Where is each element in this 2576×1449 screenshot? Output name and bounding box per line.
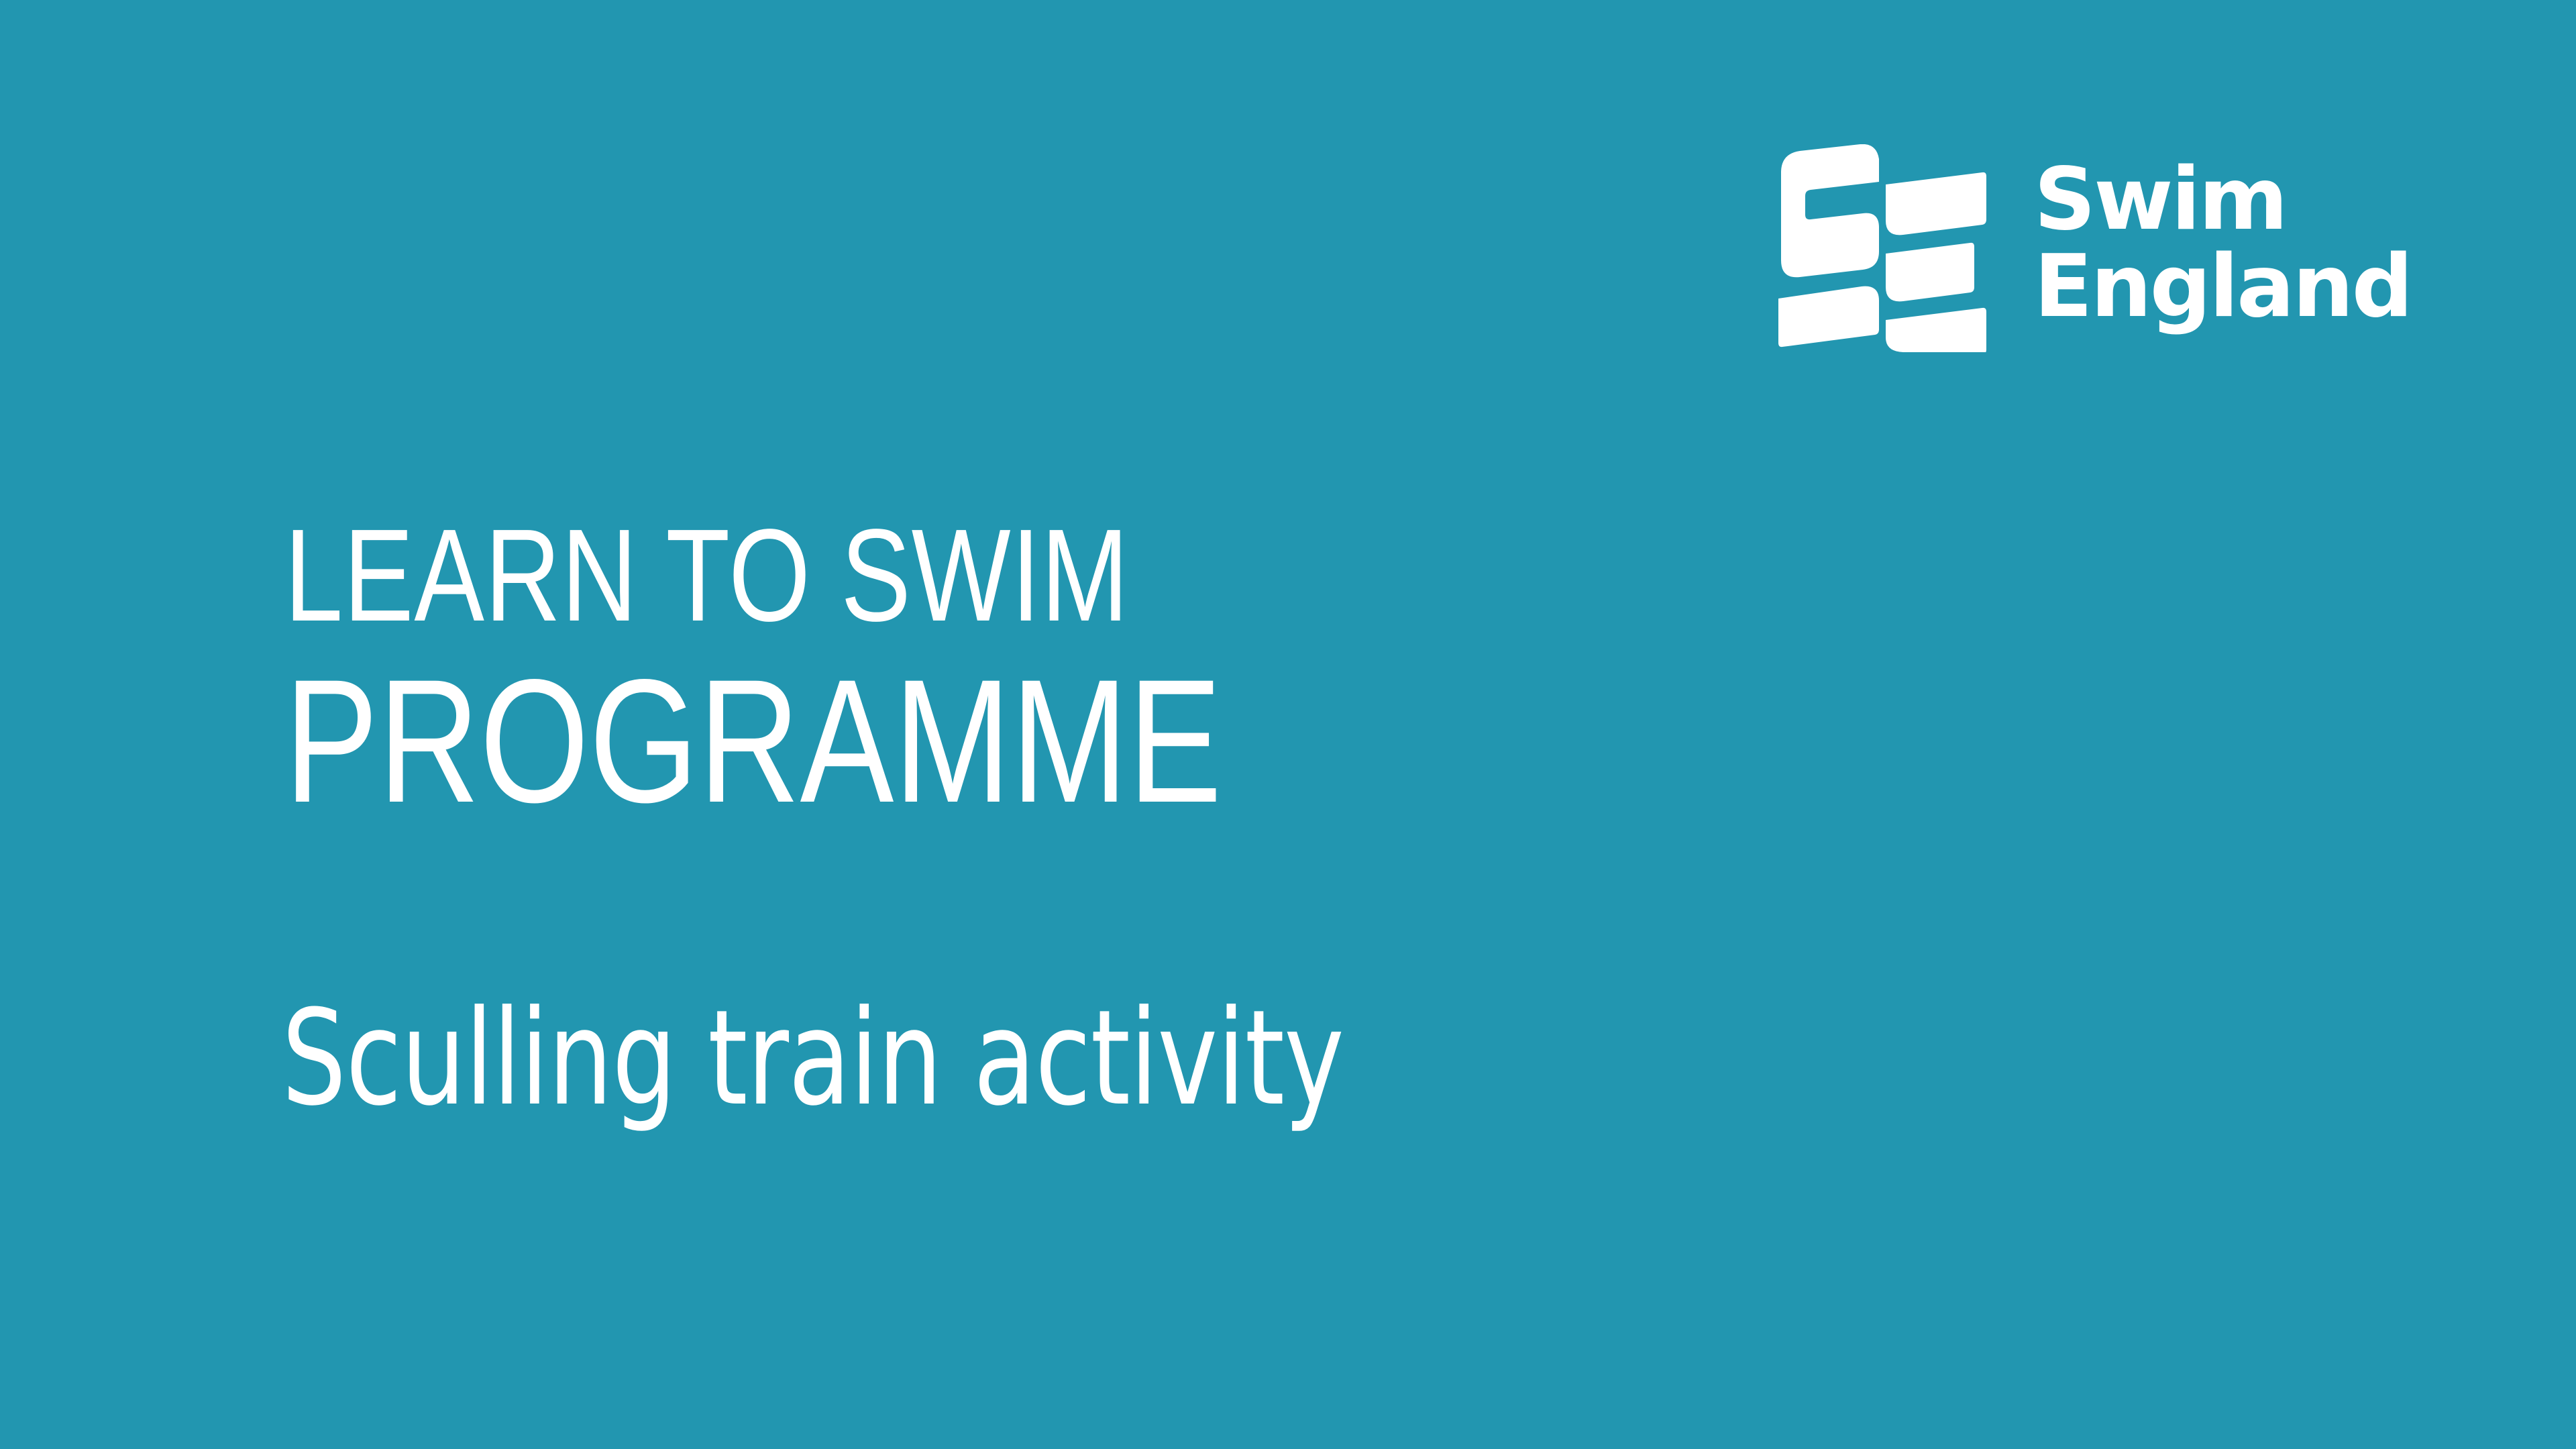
title-line-programme: PROGRAMME (284, 653, 1572, 829)
title-line-learn-to-swim: LEARN TO SWIM (284, 510, 1572, 641)
wordmark-line-swim: Swim (2034, 159, 2411, 241)
wordmark-line-england: England (2034, 246, 2411, 328)
page-subtitle: Sculling train activity (282, 993, 1892, 1124)
swim-england-wave-mark-icon (1761, 144, 1992, 352)
page-title: LEARN TO SWIM PROGRAMME (284, 510, 1894, 829)
subtitle-activity-name: Sculling train activity (282, 993, 1666, 1124)
swim-england-logo: Swim England (1761, 144, 2432, 359)
swim-england-wordmark: Swim England (2034, 159, 2411, 327)
title-slide: Swim England LEARN TO SWIM PROGRAMME Scu… (0, 0, 2576, 1449)
